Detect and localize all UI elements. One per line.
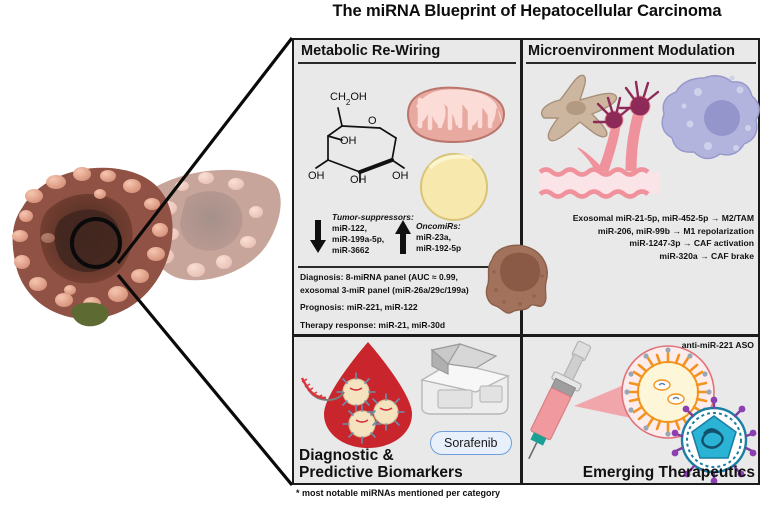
svg-text:O: O — [368, 115, 377, 127]
diagnostic-heading-line2: Predictive Biomarkers — [299, 464, 463, 481]
microenvironment-line: miR-1247-3p → CAF activation — [573, 237, 754, 250]
microenvironment-line: miR-320a → CAF brake — [573, 250, 754, 263]
tumor-cell-icon — [482, 242, 552, 320]
microenvironment-line: miR-206, miR-99b → M1 repolarization — [573, 225, 754, 238]
sequencer-icon — [418, 342, 512, 420]
diagnostic-heading-line1: Diagnostic & — [299, 447, 463, 464]
biomarker-text-block: Diagnosis: 8-miRNA panel (AUC ≈ 0.99, ex… — [300, 272, 469, 334]
macrophage-icon — [662, 76, 759, 159]
svg-text:OH: OH — [340, 135, 357, 147]
oncomir-list: OncomiRs: miR-23a, miR-192-5p — [416, 221, 461, 254]
quadrant-emerging-therapeutics: Restoration: miR-26a-AAV miR-34a-liposom… — [522, 336, 760, 483]
heading-rule — [526, 62, 756, 64]
svg-text:OH: OH — [392, 170, 409, 182]
quadrant-diagnostic-biomarkers: Sorafenib Diagnostic & Predictive Biomar… — [294, 336, 520, 483]
quadrant-heading-microenvironment: Microenvironment Modulation — [528, 43, 735, 59]
oncomir-item: miR-23a, — [416, 232, 461, 243]
quadrant-heading-metabolic: Metabolic Re-Wiring — [301, 43, 440, 59]
oncomir-item: miR-192-5p — [416, 243, 461, 254]
microenvironment-text-block: Exosomal miR-21-5p, miR-452-5p → M2/TAM … — [573, 212, 754, 262]
fibroblast-icon — [542, 75, 617, 140]
callout-lines — [100, 30, 310, 500]
biomarker-line: Diagnosis: 8-miRNA panel (AUC ≈ 0.99, — [300, 272, 469, 283]
oncomir-title: OncomiRs: — [416, 221, 461, 232]
rna-strand-icon — [300, 374, 346, 414]
biomarker-line: Prognosis: miR-221, miR-122 — [300, 298, 469, 316]
svg-text:CH2OH: CH2OH — [330, 91, 367, 107]
blood-vessel-icon — [540, 170, 660, 197]
footnote: * most notable miRNAs mentioned per cate… — [296, 488, 500, 498]
mitochondrion-icon — [400, 84, 510, 146]
biomarker-line: Therapy response: miR-21, miR-30d — [300, 316, 469, 334]
lipid-droplet-icon — [416, 150, 492, 222]
microenvironment-line: Exosomal miR-21-5p, miR-452-5p → M2/TAM — [573, 212, 754, 225]
quadrant-microenvironment: Microenvironment Modulation — [522, 40, 760, 334]
quadrant-heading-therapeutics: Emerging Therapeutics — [583, 464, 755, 481]
svg-text:OH: OH — [350, 174, 367, 186]
page-title: The miRNA Blueprint of Hepatocellular Ca… — [292, 2, 762, 21]
heading-rule — [298, 62, 516, 64]
svg-text:OH: OH — [308, 170, 325, 182]
up-arrow-icon — [395, 220, 411, 254]
biomarker-line: exosomal 3-miR panel (miR-26a/29c/199a) — [300, 283, 469, 298]
down-arrow-icon — [310, 220, 326, 254]
microenvironment-cells-illustration — [526, 66, 756, 206]
quadrant-heading-diagnostic: Diagnostic & Predictive Biomarkers — [299, 447, 463, 481]
